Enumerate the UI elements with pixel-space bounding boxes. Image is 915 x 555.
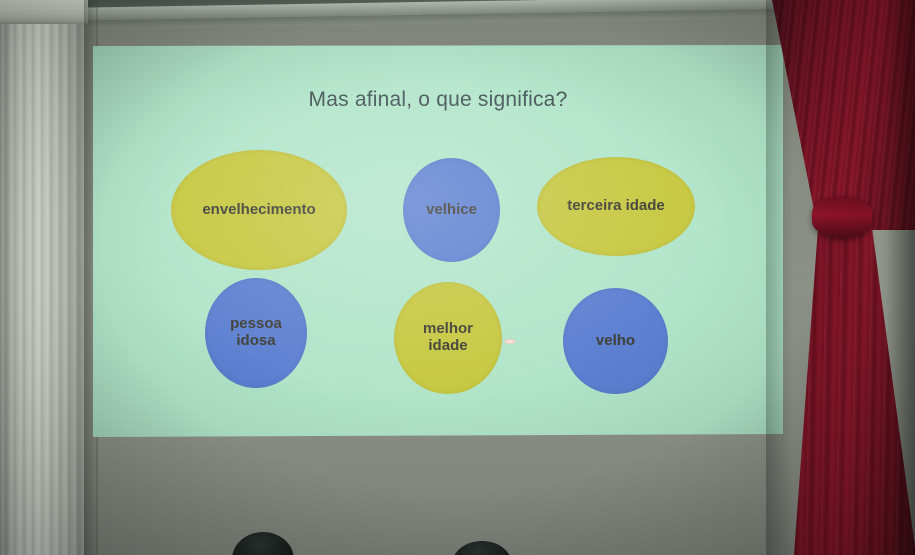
curtain-lower-drape [766, 228, 915, 555]
bubble-envelhecimento: envelhecimento [171, 150, 347, 270]
projection-screen: Mas afinal, o que significa? envelhecime… [93, 45, 783, 437]
curtain-tieback [812, 196, 872, 238]
slide-title: Mas afinal, o que significa? [93, 88, 783, 112]
laser-pointer-dot [504, 339, 516, 344]
photo-scene: Mas afinal, o que significa? envelhecime… [0, 0, 915, 555]
fluted-column [0, 0, 84, 555]
bubble-velhice: velhice [403, 158, 500, 262]
bubble-pessoa-idosa: pessoaidosa [205, 278, 307, 388]
red-curtain [766, 0, 915, 555]
bubble-terceira-idade: terceira idade [537, 157, 695, 256]
column-capital [0, 0, 88, 24]
bubble-melhor-idade: melhoridade [394, 282, 502, 394]
bubble-velho: velho [563, 288, 668, 394]
